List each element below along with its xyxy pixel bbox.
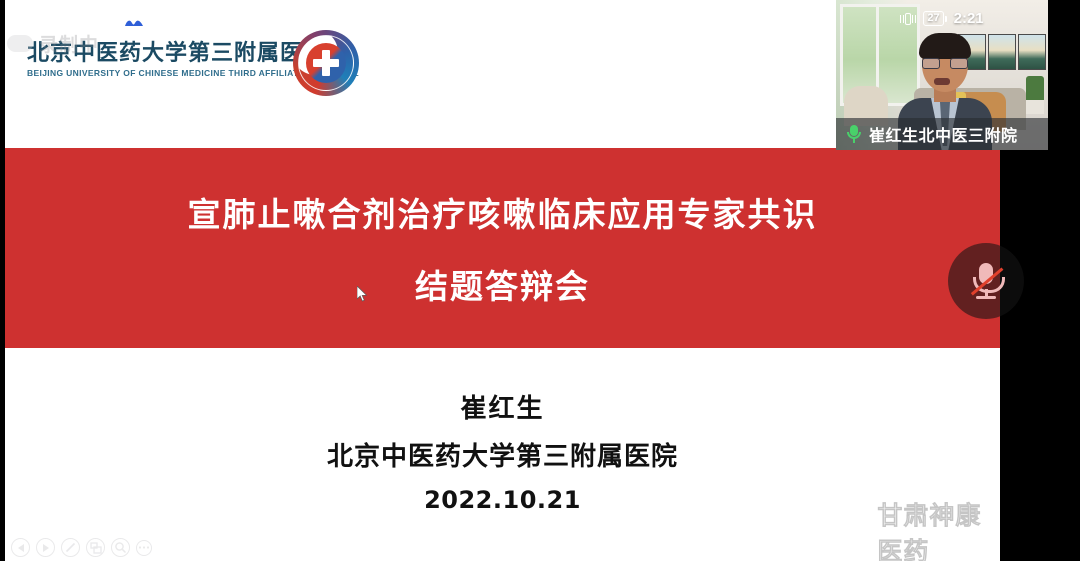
triangle-left-icon bbox=[18, 544, 24, 552]
slide-title-band: 宣肺止嗽合剂治疗咳嗽临床应用专家共识 结题答辩会 bbox=[5, 148, 1000, 348]
plant-decor bbox=[1026, 76, 1044, 102]
pen-tool-button[interactable] bbox=[61, 538, 80, 557]
microphone-muted-icon bbox=[969, 261, 1003, 301]
mic-mute-button[interactable] bbox=[948, 243, 1024, 319]
all-slides-button[interactable] bbox=[86, 538, 105, 557]
recording-pill-icon bbox=[7, 35, 33, 52]
participant-video-tile[interactable]: 27 2:21 崔红生北中医三附院 bbox=[836, 0, 1048, 150]
slide-title-line1: 宣肺止嗽合剂治疗咳嗽临床应用专家共识 bbox=[5, 188, 1000, 236]
ellipsis-icon bbox=[138, 545, 150, 550]
mouth bbox=[934, 78, 950, 85]
presenter-toolbar[interactable] bbox=[11, 538, 152, 557]
microphone-on-icon bbox=[846, 125, 862, 143]
magnifier-icon bbox=[114, 541, 127, 554]
cross-icon bbox=[313, 50, 339, 76]
wall-art-3 bbox=[1018, 34, 1046, 70]
participant-name-label: 崔红生北中医三附院 bbox=[869, 122, 1018, 146]
presenter-affiliation: 北京中医药大学第三附属医院 bbox=[5, 436, 1000, 473]
plant-pot-decor bbox=[1026, 100, 1044, 114]
wechat-watermark: 甘肃神康医药 bbox=[841, 496, 1000, 561]
recording-indicator: 录制中 bbox=[7, 30, 99, 57]
more-options-button[interactable] bbox=[136, 540, 152, 556]
vibrate-icon bbox=[900, 11, 916, 27]
recording-label: 录制中 bbox=[39, 30, 99, 57]
slide-title-line2: 结题答辩会 bbox=[5, 260, 1000, 308]
grid-icon bbox=[90, 542, 102, 554]
wechat-icon bbox=[841, 518, 869, 546]
battery-tip-icon bbox=[945, 16, 947, 22]
blue-mark-icon bbox=[123, 18, 145, 28]
mic-base bbox=[976, 296, 996, 299]
watermark-text: 甘肃神康医药 bbox=[877, 496, 1000, 561]
previous-slide-button[interactable] bbox=[11, 538, 30, 557]
pen-icon bbox=[64, 541, 77, 554]
glasses-icon bbox=[922, 58, 968, 69]
participant-name-bar: 崔红生北中医三附院 bbox=[836, 118, 1048, 150]
presenter-name: 崔红生 bbox=[5, 388, 1000, 425]
battery-indicator: 27 bbox=[923, 11, 946, 26]
wall-art-2 bbox=[988, 34, 1016, 70]
screen-share-view: 北京中医药大学第三附属医院 BEIJING UNIVERSITY OF CHIN… bbox=[0, 0, 1080, 561]
phone-status-bar: 27 2:21 bbox=[836, 10, 1048, 27]
triangle-right-icon bbox=[43, 544, 49, 552]
battery-level: 27 bbox=[923, 11, 943, 26]
status-clock: 2:21 bbox=[954, 10, 984, 27]
emblem-core bbox=[306, 43, 346, 83]
hospital-emblem-icon bbox=[293, 30, 359, 96]
hair bbox=[919, 33, 971, 59]
next-slide-button[interactable] bbox=[36, 538, 55, 557]
zoom-button[interactable] bbox=[111, 538, 130, 557]
mouse-cursor bbox=[357, 286, 368, 302]
